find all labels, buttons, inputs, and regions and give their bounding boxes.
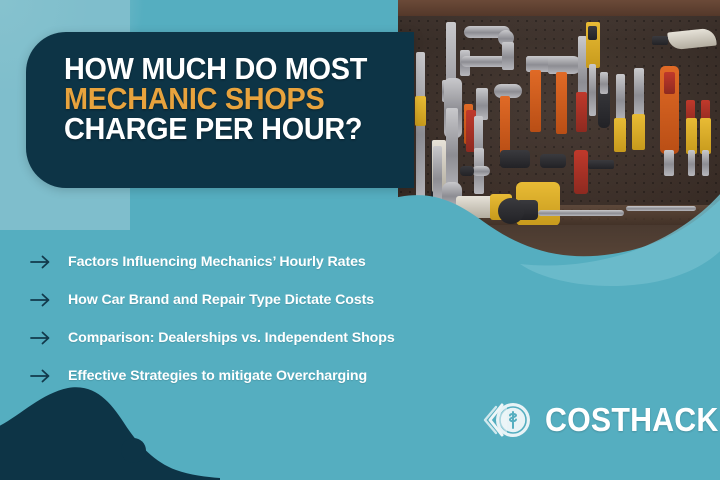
tool-saw-grip-icon bbox=[588, 26, 597, 40]
tool-chisel-r1b-icon bbox=[686, 118, 697, 154]
money-coin-icon bbox=[480, 396, 536, 444]
brand-name: COSTHACK bbox=[545, 401, 719, 439]
decorative-dot bbox=[121, 438, 146, 463]
brand-logo: COSTHACK bbox=[480, 396, 720, 444]
tool-chisel-r2b-icon bbox=[700, 118, 711, 154]
tool-handle-grip-icon bbox=[415, 96, 426, 126]
list-item: Factors Influencing Mechanics’ Hourly Ra… bbox=[30, 243, 570, 281]
tool-pliers-nose-icon bbox=[600, 72, 608, 94]
arrow-right-icon bbox=[30, 292, 52, 308]
pegboard-top-trim bbox=[398, 0, 720, 16]
tool-saw-blade-icon bbox=[589, 64, 596, 116]
title-line-3: CHARGE PER HOUR? bbox=[64, 114, 390, 144]
tool-knife-accent-icon bbox=[664, 72, 675, 94]
list-item: Comparison: Dealerships vs. Independent … bbox=[30, 319, 570, 357]
infographic-banner: HOW MUCH DO MOST MECHANIC SHOPS CHARGE P… bbox=[0, 0, 720, 480]
tool-driver-shaft-icon bbox=[634, 68, 644, 118]
page-title: HOW MUCH DO MOST MECHANIC SHOPS CHARGE P… bbox=[64, 54, 414, 144]
title-line-1: HOW MUCH DO MOST bbox=[64, 54, 390, 84]
decorative-blob bbox=[0, 370, 220, 480]
list-item-label: How Car Brand and Repair Type Dictate Co… bbox=[68, 292, 374, 308]
tool-trowel-neck-icon bbox=[652, 36, 668, 45]
list-item-label: Comparison: Dealerships vs. Independent … bbox=[68, 330, 395, 346]
tool-punch-icon bbox=[616, 74, 625, 122]
arrow-right-icon bbox=[30, 254, 52, 270]
list-item-label: Factors Influencing Mechanics’ Hourly Ra… bbox=[68, 254, 366, 270]
title-line-2: MECHANIC SHOPS bbox=[64, 84, 390, 114]
tool-hammer3-handle-icon bbox=[556, 72, 567, 134]
tool-screwdriver-red2-icon bbox=[576, 92, 587, 132]
tool-punch-handle-icon bbox=[614, 118, 626, 152]
arrow-right-icon bbox=[30, 330, 52, 346]
tool-wrench-end-icon bbox=[502, 42, 514, 70]
tool-hammer2-handle-icon bbox=[530, 70, 541, 132]
tool-hammer-handle-icon bbox=[500, 96, 510, 154]
list-item: How Car Brand and Repair Type Dictate Co… bbox=[30, 281, 570, 319]
tool-driver-handle-icon bbox=[632, 114, 645, 150]
